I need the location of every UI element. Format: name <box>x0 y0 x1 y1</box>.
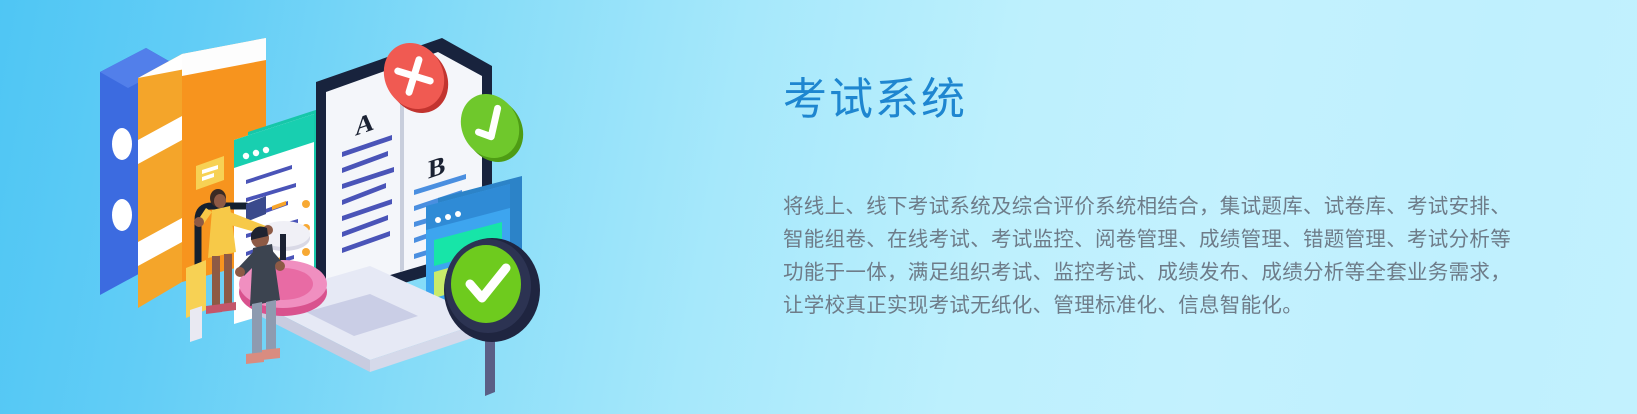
description-line-3: 功能于一体，满足组织考试、监控考试、成绩发布、成绩分析等全套业务需求， <box>783 256 1493 289</box>
hero-text-block: 考试系统 将线上、线下考试系统及综合评价系统相结合，集试题库、试卷库、考试安排、… <box>783 72 1503 322</box>
description-line-2: 智能组卷、在线考试、考试监控、阅卷管理、成绩管理、错题管理、考试分析等 <box>783 223 1493 256</box>
hero-banner: A B <box>0 0 1637 414</box>
exam-system-illustration: A B <box>70 20 630 400</box>
page-title: 考试系统 <box>783 72 1503 128</box>
magnifier-check-icon <box>444 238 540 396</box>
description-line-4: 让学校真正实现考试无纸化、管理标准化、信息智能化。 <box>783 289 1493 322</box>
description-line-1: 将线上、线下考试系统及综合评价系统相结合，集试题库、试卷库、考试安排、 <box>783 190 1493 223</box>
hero-description: 将线上、线下考试系统及综合评价系统相结合，集试题库、试卷库、考试安排、 智能组卷… <box>783 128 1493 322</box>
exam-option-b-label: B <box>428 149 445 184</box>
